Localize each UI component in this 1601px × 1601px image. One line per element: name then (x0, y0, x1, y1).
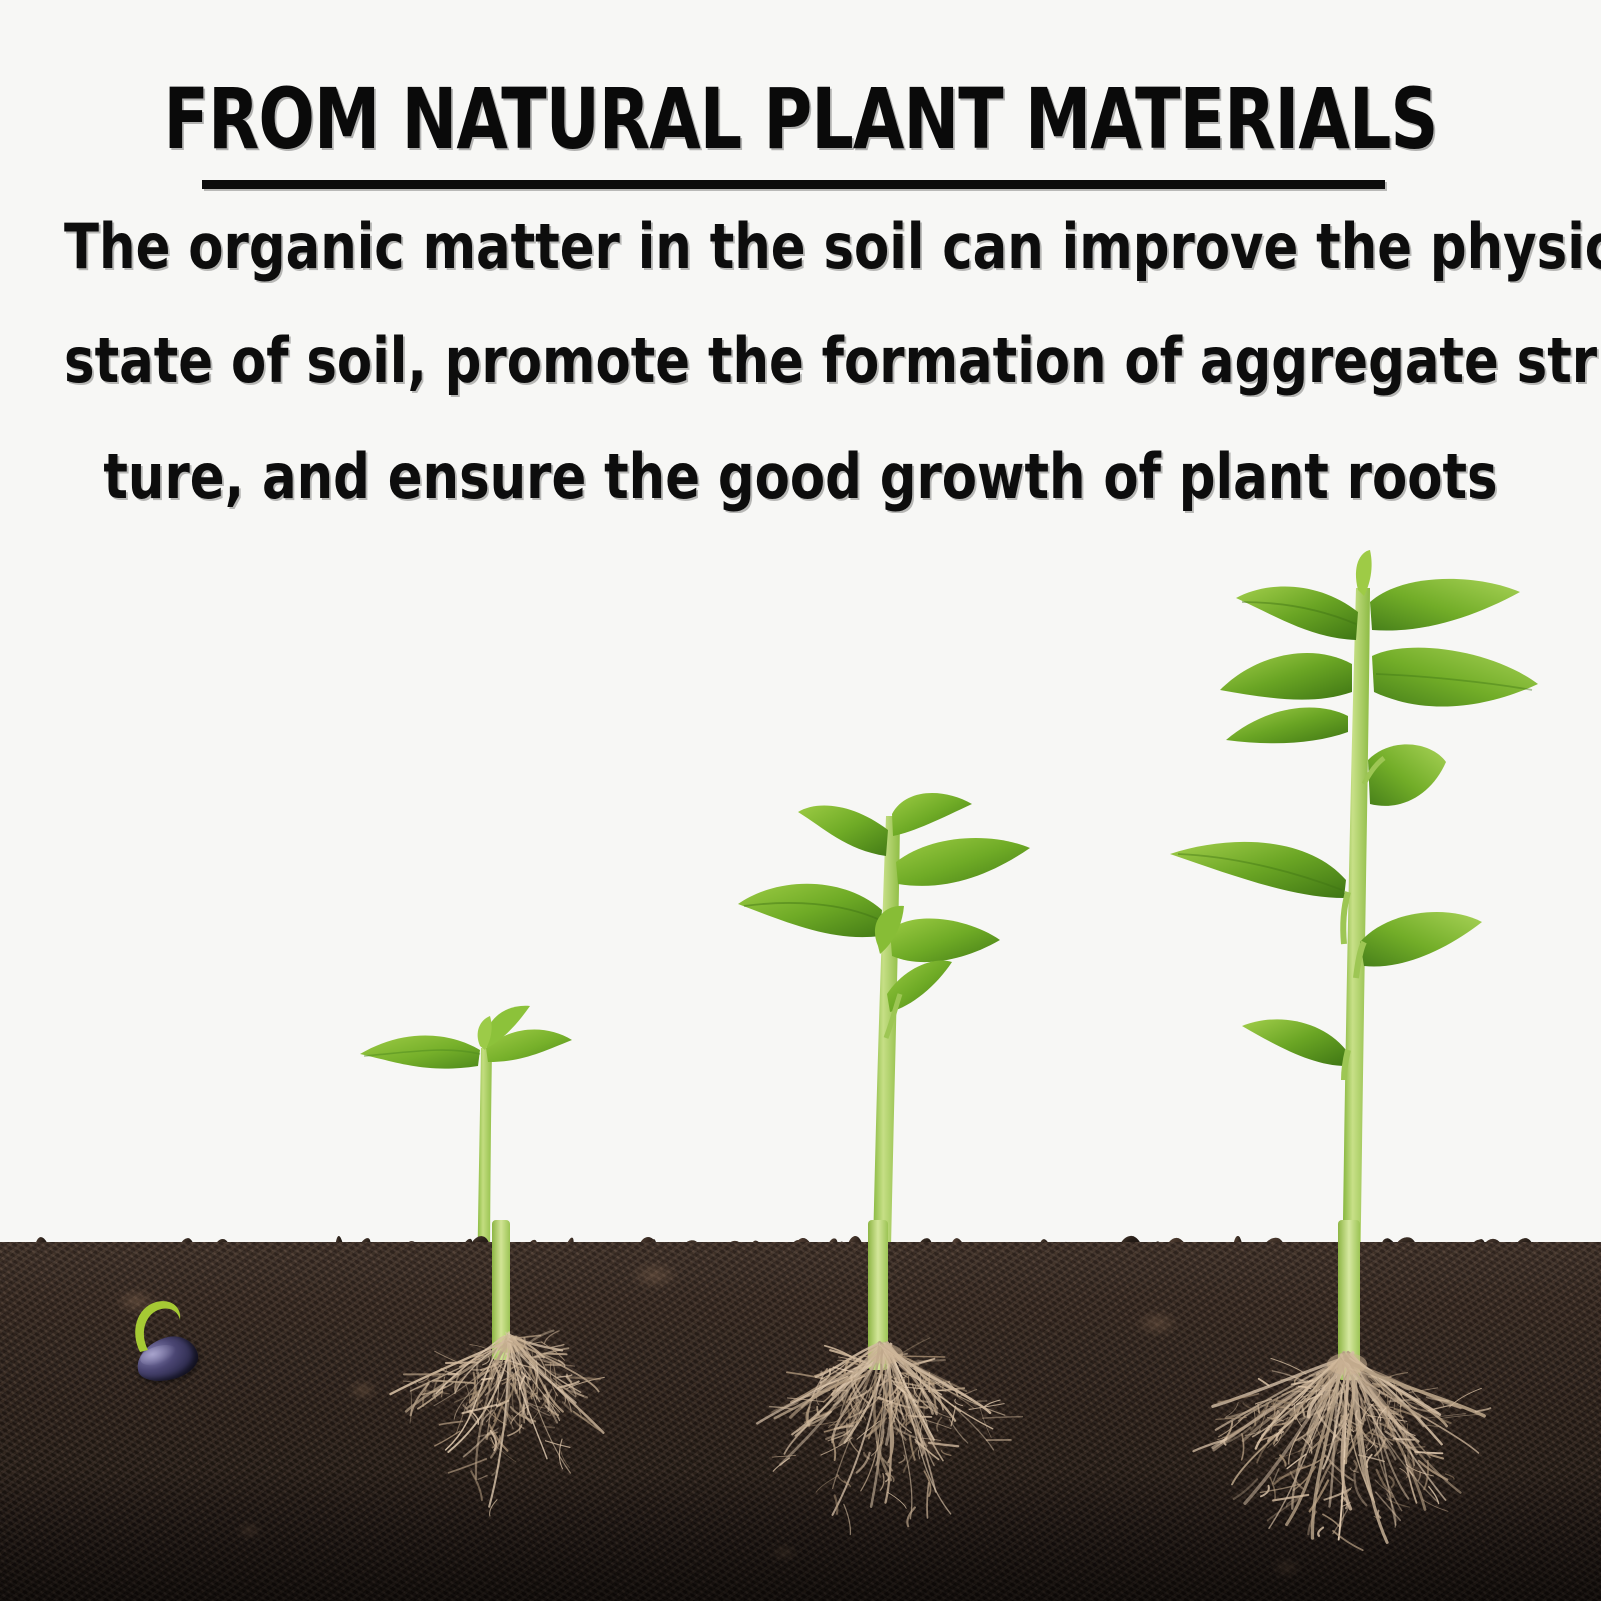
root-system-3 (1195, 1350, 1555, 1601)
body-text-line-1: The organic matter in the soil can impro… (64, 210, 1537, 283)
soil-top-haze (0, 1228, 1601, 1268)
body-text-line-3: ture, and ensure the good growth of plan… (64, 440, 1537, 513)
root-system-2 (735, 1340, 1075, 1590)
title-underline (202, 180, 1385, 189)
poster-root: FROM NATURAL PLANT MATERIALS The organic… (0, 0, 1601, 1601)
seed-sprout-icon (124, 1290, 194, 1360)
germinating-seed (118, 1290, 228, 1400)
plant-growth-illustration (0, 520, 1601, 1601)
page-title: FROM NATURAL PLANT MATERIALS (96, 76, 1505, 162)
text-block: FROM NATURAL PLANT MATERIALS The organic… (0, 0, 1601, 540)
body-text-line-2: state of soil, promote the formation of … (64, 324, 1537, 397)
root-system-1 (360, 1330, 660, 1560)
